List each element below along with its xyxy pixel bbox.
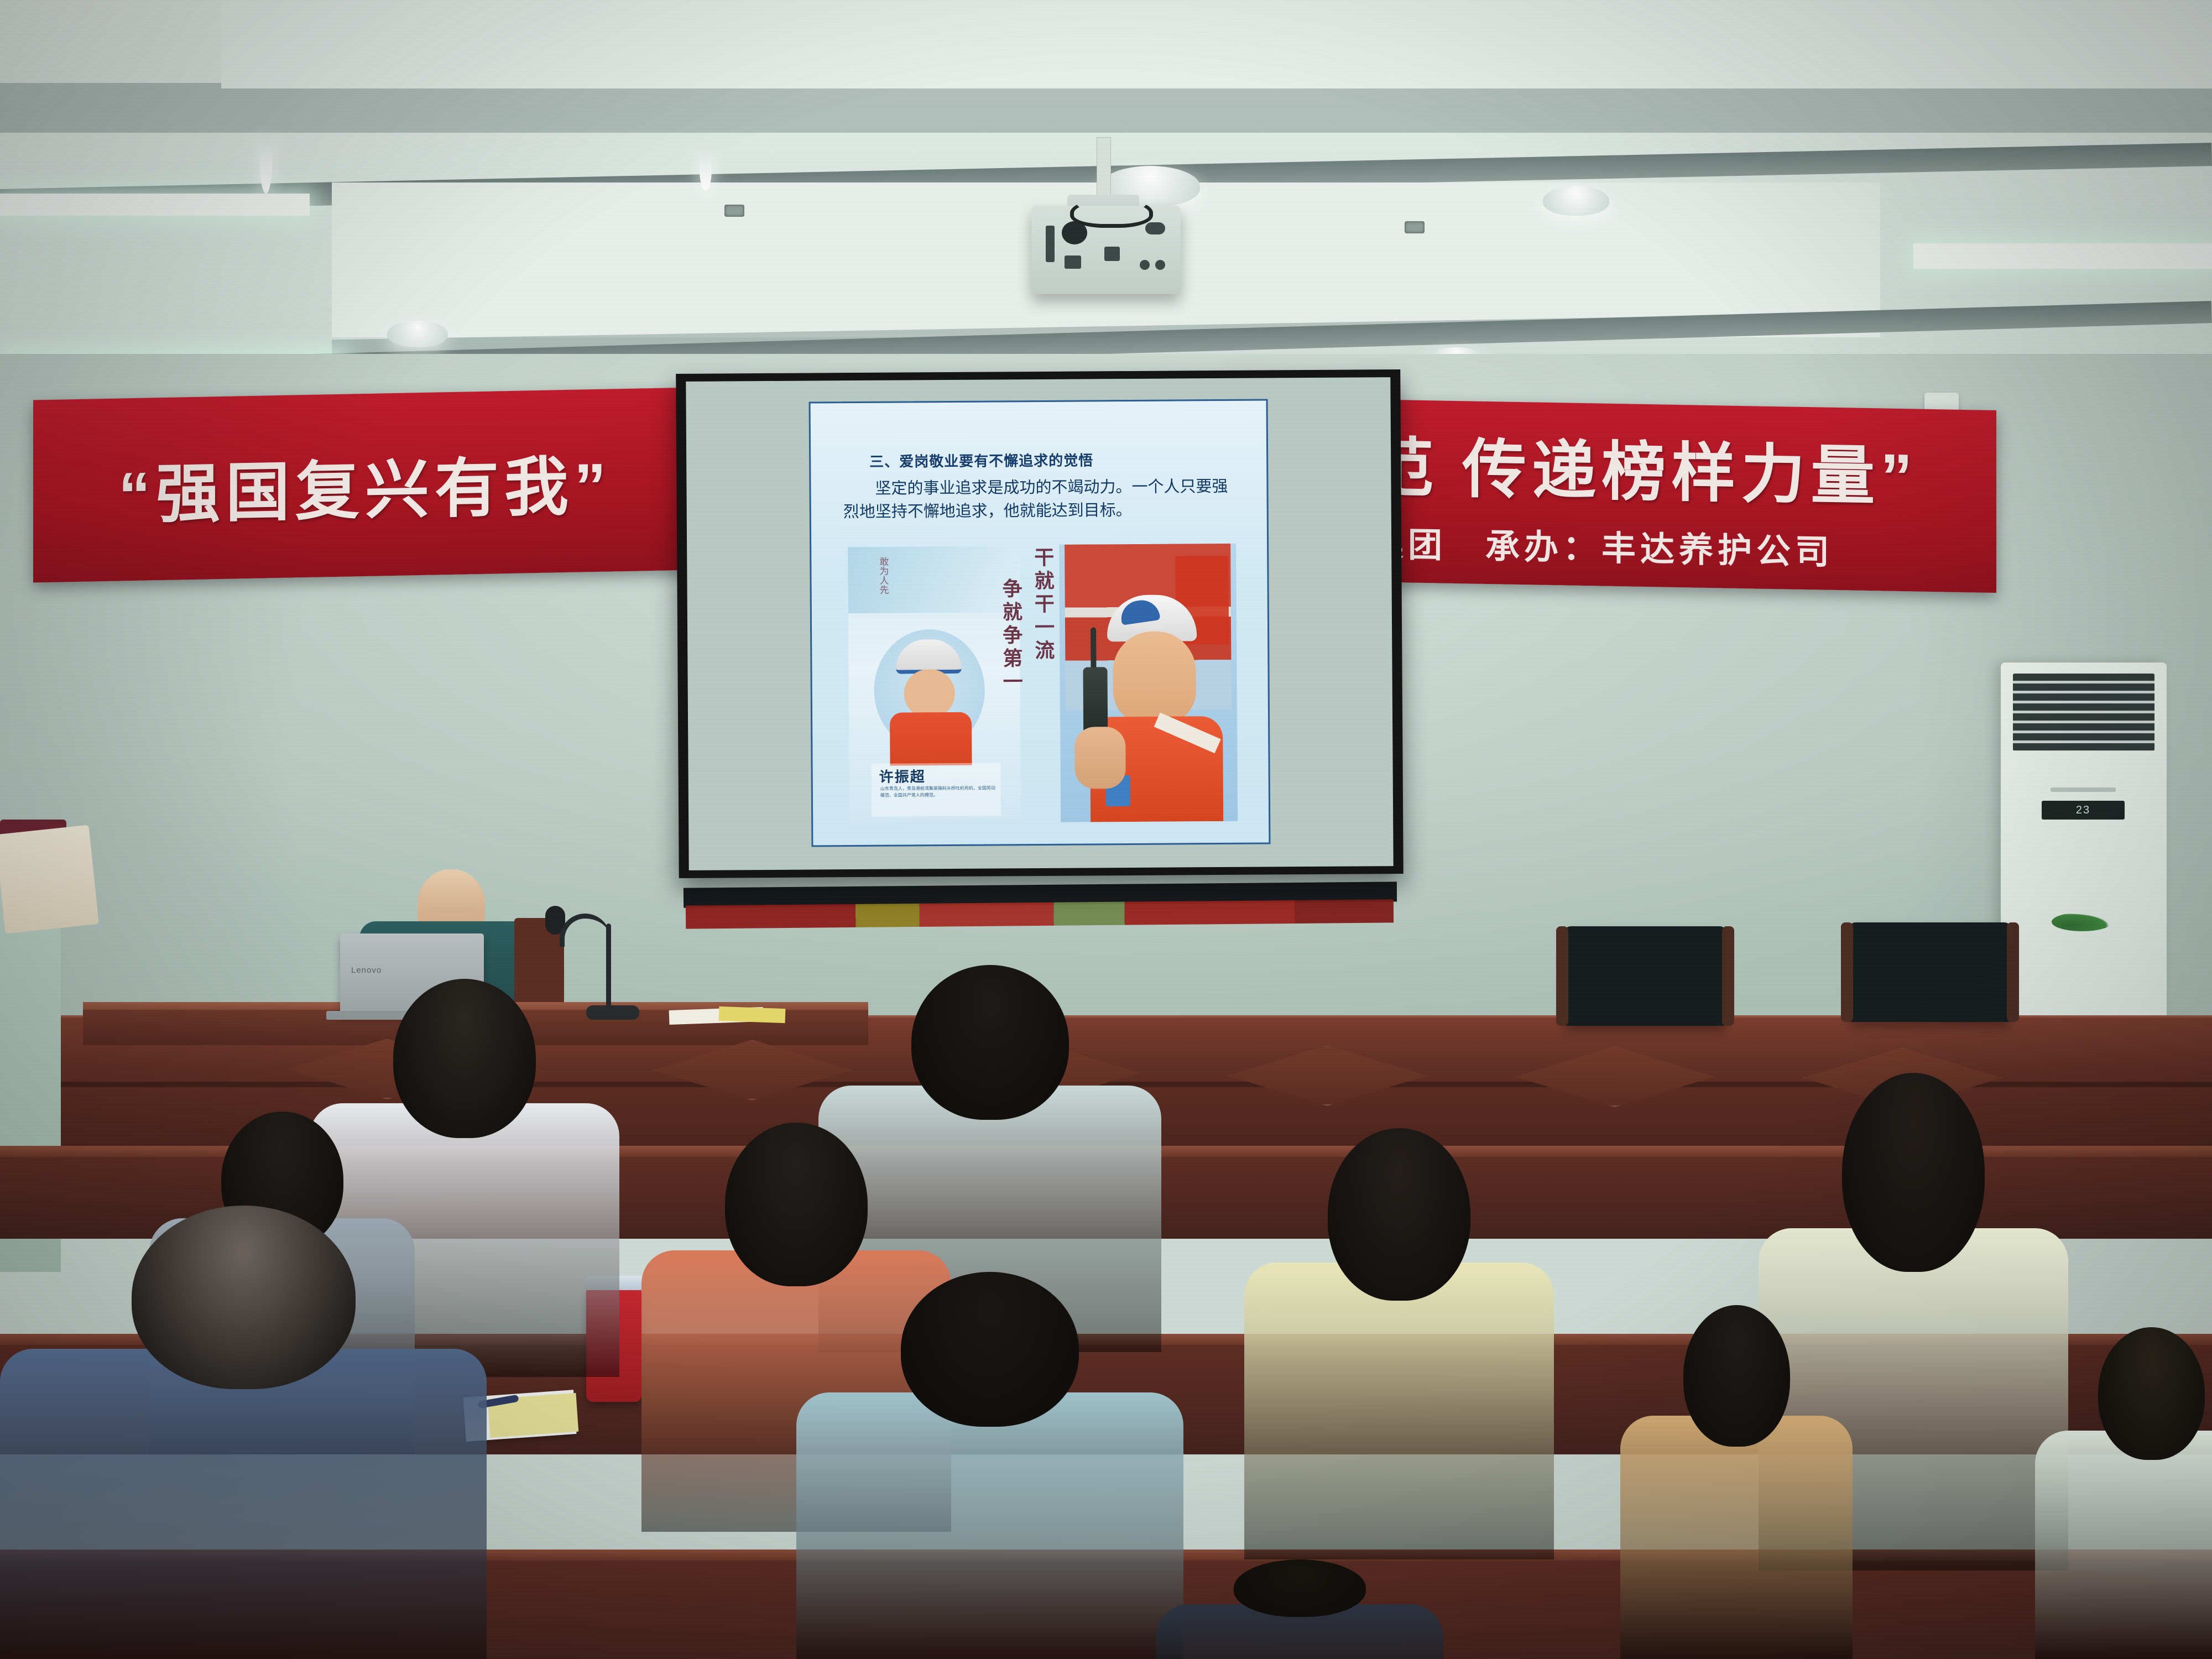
slide-heading: 三、爱岗敬业要有不懈追求的觉悟 xyxy=(869,449,1093,471)
stage-chair[interactable] xyxy=(1565,926,1725,1026)
audience-member xyxy=(1620,1305,1853,1659)
audience-torso xyxy=(0,1349,487,1659)
audience-head xyxy=(1328,1128,1470,1301)
audience-head xyxy=(1683,1305,1790,1447)
recessed-downlight xyxy=(724,205,744,217)
banner-left-text: “强国复兴有我” xyxy=(118,434,612,536)
audience-head xyxy=(725,1123,868,1286)
cabinet-cloth xyxy=(0,825,99,934)
presentation-slide: 三、爱岗敬业要有不懈追求的觉悟 坚定的事业追求是成功的不竭动力。一个人只要强烈地… xyxy=(809,399,1271,847)
poster-uniform xyxy=(890,712,972,766)
projector-cable xyxy=(1070,198,1153,228)
audience-torso xyxy=(1620,1416,1853,1659)
slide-vertical-text-right: 争就争第一 xyxy=(998,578,1024,694)
photo-face xyxy=(1113,631,1196,724)
audience-torso xyxy=(1244,1262,1554,1559)
poster-person-name: 许振超 xyxy=(879,765,926,786)
audience-head xyxy=(1842,1073,1985,1272)
slide-photo-worker xyxy=(1059,544,1238,822)
audience-member xyxy=(1156,1559,1443,1659)
banner-left: “强国复兴有我” xyxy=(33,387,697,582)
slide-body-text: 坚定的事业追求是成功的不竭动力。一个人只要强烈地坚持不懈地追求，他就能达到目标。 xyxy=(843,475,1241,524)
meeting-room-photo: “强国复兴有我” 范 传递榜样力量” 集团 承办：丰达养护公司 三、爱岗敬业要有… xyxy=(0,0,2212,1659)
poster-caption: 山东青岛人，青岛港前湾集装箱码头桥吐机司机，全国劳动模范、全国共产党人的模范。 xyxy=(880,785,997,799)
slide-vertical-text-left: 干就干一流 xyxy=(1030,547,1056,663)
audience-head xyxy=(901,1272,1079,1427)
slide-poster-image: 敢为人先 许振超 山东青岛人，青岛港前湾集装箱码头桥吐机司机，全国劳动模范、全国… xyxy=(848,546,1021,823)
pendant-spot-light xyxy=(260,133,272,194)
ac-brand-logo xyxy=(2051,787,2116,792)
banner-right-subline: 集团 承办：丰达养护公司 xyxy=(1369,516,1834,574)
audience-head xyxy=(1234,1559,1366,1617)
audience-torso xyxy=(796,1392,1183,1659)
ac-vent-grille xyxy=(2013,674,2154,751)
audience-member xyxy=(0,1206,487,1659)
ac-leaf-decal-icon xyxy=(2052,912,2112,931)
banner-right: 范 传递榜样力量” 集团 承办：丰达养护公司 xyxy=(1360,399,1996,593)
floor-air-conditioner[interactable]: 23 xyxy=(2001,662,2167,1039)
photo-hand xyxy=(1074,727,1126,789)
audience-member xyxy=(1244,1128,1554,1559)
audience-head xyxy=(911,965,1069,1120)
audience-torso xyxy=(2035,1431,2212,1659)
pendant-spot-light xyxy=(700,150,712,190)
audience-head xyxy=(132,1206,356,1389)
photo-radio-antenna xyxy=(1091,627,1096,671)
projection-screen: 三、爱岗敬业要有不懈追求的觉悟 坚定的事业追求是成功的不竭动力。一个人只要强烈地… xyxy=(676,369,1404,878)
poster-face xyxy=(904,669,955,718)
screen-surface: 三、爱岗敬业要有不懈追求的觉悟 坚定的事业追求是成功的不竭动力。一个人只要强烈地… xyxy=(686,377,1393,870)
banner-right-headline: 范 传递榜样力量” xyxy=(1369,415,1918,518)
audience-member xyxy=(796,1272,1183,1659)
notebook-on-desk xyxy=(719,1006,786,1023)
stage-chair[interactable] xyxy=(1850,922,2010,1022)
ceiling-spot-light xyxy=(1543,186,1609,216)
laptop-brand-label: Lenovo xyxy=(351,966,382,975)
ac-temperature-display: 23 xyxy=(2042,801,2125,820)
projector-mount-rod xyxy=(1097,137,1111,202)
audience-member xyxy=(2035,1327,2212,1659)
ceiling-spot-light xyxy=(387,321,448,347)
poster-seal-text: 敢为人先 xyxy=(858,557,888,606)
audience-head xyxy=(2098,1327,2205,1460)
recessed-downlight xyxy=(1405,221,1425,233)
